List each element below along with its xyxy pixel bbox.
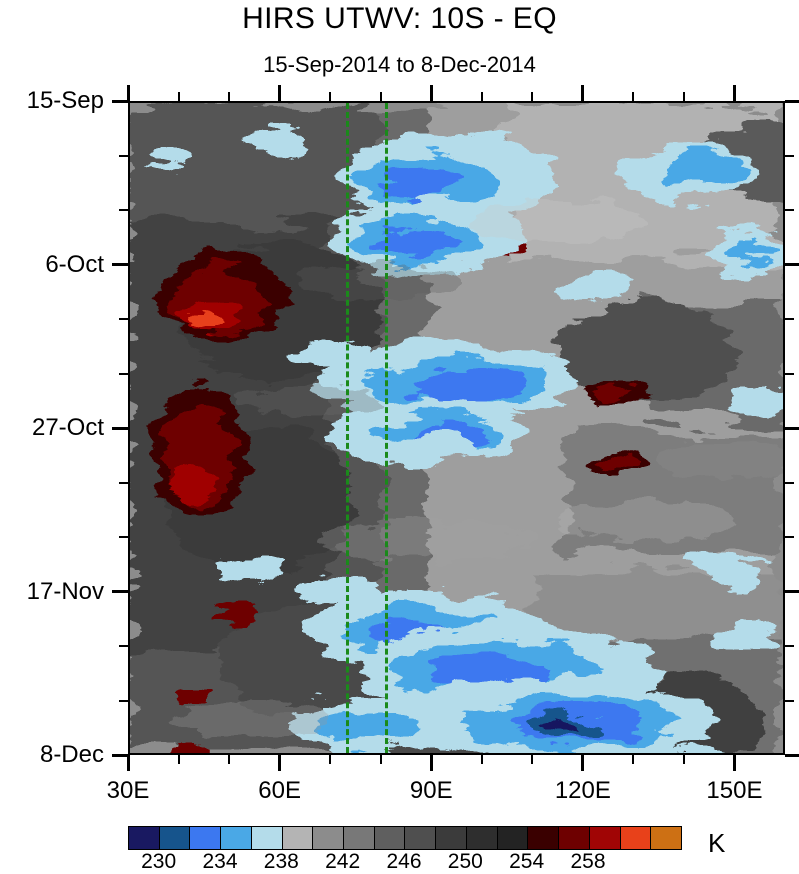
x-minor-tick xyxy=(329,755,331,764)
colorbar-swatch-11[interactable] xyxy=(467,827,498,849)
y-major-tick-right-6-Oct xyxy=(785,263,799,266)
y-minor-tick xyxy=(119,209,128,211)
x-axis-label-90E: 90E xyxy=(410,777,453,805)
colorbar-tick-254: 254 xyxy=(509,850,544,874)
x-major-tick-top-120E xyxy=(581,85,584,101)
colorbar-swatch-6[interactable] xyxy=(313,827,344,849)
y-minor-tick-right xyxy=(785,700,794,702)
x-minor-tick-top xyxy=(481,92,483,101)
x-minor-tick-top xyxy=(531,92,533,101)
y-major-tick-6-Oct xyxy=(112,263,128,266)
colorbar-swatch-2[interactable] xyxy=(190,827,221,849)
x-major-tick-30E xyxy=(127,755,130,771)
y-minor-tick xyxy=(119,318,128,320)
colorbar-swatch-9[interactable] xyxy=(405,827,436,849)
annotation-vline-80e xyxy=(385,103,388,753)
y-axis-label-17-Nov: 17-Nov xyxy=(0,578,104,606)
colorbar-swatch-5[interactable] xyxy=(283,827,314,849)
y-major-tick-15-Sep xyxy=(112,100,128,103)
colorbar-swatch-7[interactable] xyxy=(344,827,375,849)
colorbar-swatch-0[interactable] xyxy=(129,827,160,849)
colorbar-swatch-13[interactable] xyxy=(528,827,559,849)
y-minor-tick xyxy=(119,482,128,484)
page-title: HIRS UTWV: 10S - EQ xyxy=(0,2,799,36)
y-axis-label-27-Oct: 27-Oct xyxy=(0,414,104,442)
x-axis-label-60E: 60E xyxy=(258,777,301,805)
x-minor-tick xyxy=(683,755,685,764)
annotation-vline-72e xyxy=(346,103,349,753)
y-minor-tick-right xyxy=(785,373,794,375)
x-major-tick-90E xyxy=(430,755,433,771)
y-major-tick-8-Dec xyxy=(112,754,128,757)
hovmoller-plot xyxy=(128,101,785,755)
contour-field xyxy=(130,103,783,753)
x-minor-tick xyxy=(228,755,230,764)
y-major-tick-17-Nov xyxy=(112,590,128,593)
plot-frame xyxy=(128,101,785,755)
x-minor-tick xyxy=(380,755,382,764)
colorbar-swatch-15[interactable] xyxy=(590,827,621,849)
x-major-tick-120E xyxy=(581,755,584,771)
y-minor-tick xyxy=(119,700,128,702)
x-minor-tick-top xyxy=(683,92,685,101)
y-major-tick-right-15-Sep xyxy=(785,100,799,103)
x-major-tick-150E xyxy=(733,755,736,771)
colorbar-tick-234: 234 xyxy=(202,850,237,874)
colorbar-swatch-17[interactable] xyxy=(651,827,681,849)
x-axis-label-150E: 150E xyxy=(706,777,762,805)
y-minor-tick-right xyxy=(785,536,794,538)
y-axis-label-6-Oct: 6-Oct xyxy=(0,251,104,279)
x-minor-tick-top xyxy=(329,92,331,101)
x-major-tick-top-60E xyxy=(278,85,281,101)
colorbar[interactable] xyxy=(128,826,682,850)
y-major-tick-right-8-Dec xyxy=(785,754,799,757)
y-minor-tick xyxy=(119,373,128,375)
colorbar-tick-258: 258 xyxy=(570,850,605,874)
y-axis-label-8-Dec: 8-Dec xyxy=(0,741,104,769)
x-minor-tick-top xyxy=(380,92,382,101)
x-minor-tick-top xyxy=(178,92,180,101)
colorbar-tick-250: 250 xyxy=(448,850,483,874)
colorbar-tick-230: 230 xyxy=(141,850,176,874)
y-axis-label-15-Sep: 15-Sep xyxy=(0,87,104,115)
x-major-tick-60E xyxy=(278,755,281,771)
colorbar-swatch-12[interactable] xyxy=(498,827,529,849)
colorbar-tick-238: 238 xyxy=(264,850,299,874)
colorbar-swatch-16[interactable] xyxy=(621,827,652,849)
y-major-tick-right-27-Oct xyxy=(785,427,799,430)
y-minor-tick xyxy=(119,536,128,538)
y-minor-tick-right xyxy=(785,318,794,320)
colorbar-tick-246: 246 xyxy=(386,850,421,874)
colorbar-tick-242: 242 xyxy=(325,850,360,874)
y-major-tick-27-Oct xyxy=(112,427,128,430)
colorbar-swatch-10[interactable] xyxy=(436,827,467,849)
x-minor-tick-top xyxy=(228,92,230,101)
y-minor-tick-right xyxy=(785,209,794,211)
page-subtitle: 15-Sep-2014 to 8-Dec-2014 xyxy=(0,52,799,78)
colorbar-swatch-4[interactable] xyxy=(252,827,283,849)
x-minor-tick xyxy=(531,755,533,764)
y-minor-tick xyxy=(119,645,128,647)
colorbar-swatch-1[interactable] xyxy=(160,827,191,849)
colorbar-swatch-14[interactable] xyxy=(559,827,590,849)
x-axis-label-120E: 120E xyxy=(555,777,611,805)
y-minor-tick-right xyxy=(785,155,794,157)
x-major-tick-top-90E xyxy=(430,85,433,101)
y-minor-tick xyxy=(119,155,128,157)
x-minor-tick xyxy=(632,755,634,764)
y-minor-tick-right xyxy=(785,482,794,484)
colorbar-unit-label: K xyxy=(708,828,725,859)
x-minor-tick xyxy=(481,755,483,764)
colorbar-swatch-3[interactable] xyxy=(221,827,252,849)
x-major-tick-top-150E xyxy=(733,85,736,101)
x-minor-tick xyxy=(178,755,180,764)
y-minor-tick-right xyxy=(785,645,794,647)
y-major-tick-right-17-Nov xyxy=(785,590,799,593)
x-axis-label-30E: 30E xyxy=(107,777,150,805)
x-minor-tick-top xyxy=(632,92,634,101)
colorbar-swatch-8[interactable] xyxy=(375,827,406,849)
